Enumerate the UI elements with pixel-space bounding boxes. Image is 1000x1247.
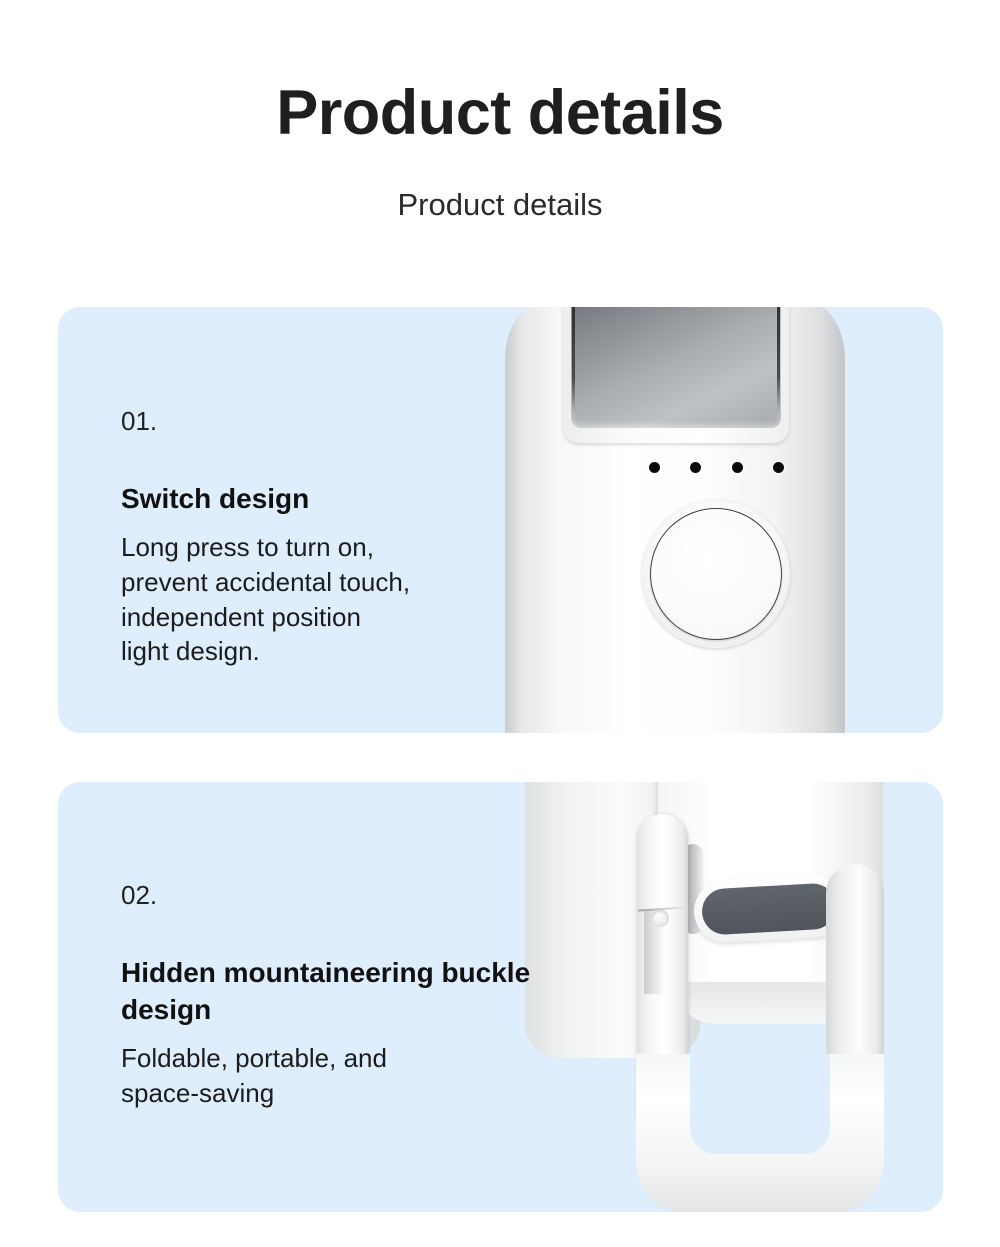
carabiner-gate-arm (636, 814, 688, 1144)
buckle-plate-notch (678, 982, 868, 1024)
card-text-block: 02. Hidden mountaineering buckle design … (121, 882, 541, 1111)
led-indicator-row (649, 461, 784, 473)
screen-recess (563, 307, 789, 443)
device-body (505, 307, 845, 733)
gate-slot (644, 910, 664, 994)
led-indicator-2 (690, 462, 701, 473)
carabiner-hook-bottom (636, 1054, 884, 1212)
detail-card-switch-design: 01. Switch design Long press to turn on,… (58, 307, 943, 733)
led-indicator-4 (773, 462, 784, 473)
product-details-page: Product details Product details 01. Swit… (0, 0, 1000, 1247)
card-number: 01. (121, 408, 501, 434)
rubber-pad-holder (692, 874, 845, 944)
led-indicator-1 (649, 462, 660, 473)
page-title: Product details (0, 80, 1000, 146)
page-subtitle: Product details (0, 188, 1000, 222)
power-button (650, 508, 782, 640)
led-indicator-3 (732, 462, 743, 473)
gate-shadow (682, 844, 704, 934)
card-number: 02. (121, 882, 541, 908)
device-body (525, 782, 700, 1058)
rubber-grip-pad (701, 882, 837, 935)
detail-card-buckle-design: 02. Hidden mountaineering buckle design … (58, 782, 943, 1212)
card-body-text: Foldable, portable, and space-saving (121, 1041, 541, 1111)
carabiner-right-arm (826, 864, 884, 1164)
card-heading: Hidden mountaineering buckle design (121, 955, 541, 1029)
power-button-well (642, 500, 790, 648)
card-text-block: 01. Switch design Long press to turn on,… (121, 408, 501, 669)
gate-pivot-dot (652, 910, 669, 927)
screen-panel (571, 307, 781, 428)
gate-seam (638, 906, 686, 911)
carabiner-hook-opening (690, 1054, 830, 1154)
buckle-plate (658, 782, 883, 1011)
page-header: Product details Product details (0, 0, 1000, 222)
card-body-text: Long press to turn on, prevent accidenta… (121, 530, 501, 669)
card-heading: Switch design (121, 481, 501, 518)
